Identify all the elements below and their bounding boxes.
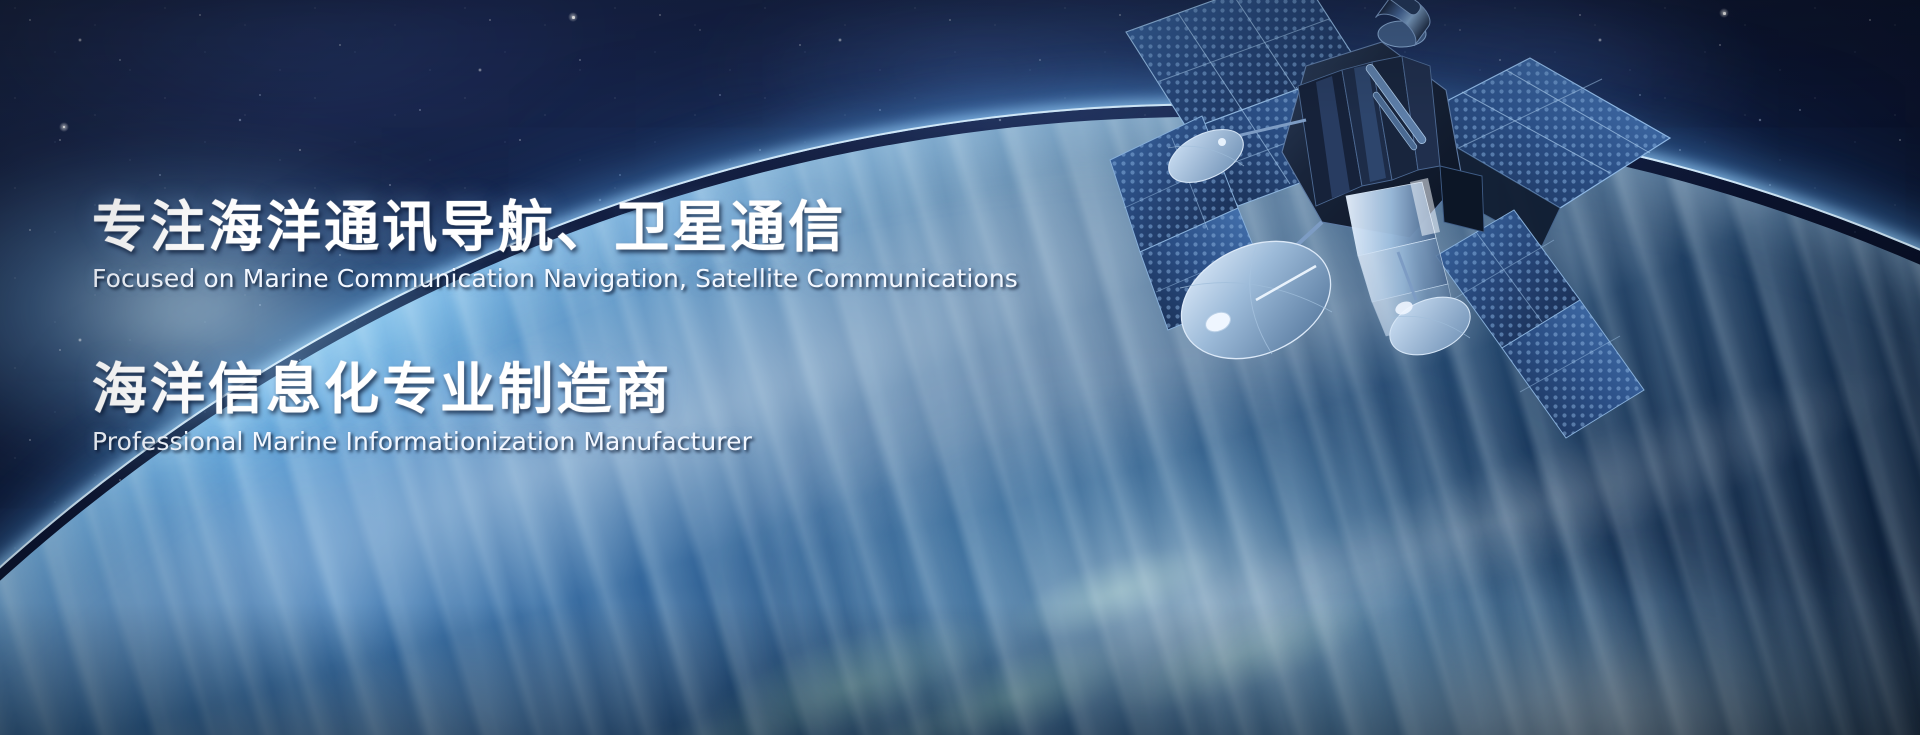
headline-english-primary: Focused on Marine Communication Navigati… [92, 262, 1152, 296]
atmosphere-glow-right [1180, 560, 1920, 735]
headline-chinese-primary: 专注海洋通讯导航、卫星通信 [92, 196, 1152, 258]
hero-banner: 专注海洋通讯导航、卫星通信 Focused on Marine Communic… [0, 0, 1920, 735]
copy-spacer [92, 296, 1152, 358]
headline-english-secondary: Professional Marine Informationization M… [92, 425, 1152, 459]
headline-chinese-secondary: 海洋信息化专业制造商 [92, 358, 1152, 420]
communications-satellite-icon [1110, 0, 1670, 440]
satellite-propulsion-module [1369, 0, 1436, 47]
hero-copy: 专注海洋通讯导航、卫星通信 Focused on Marine Communic… [92, 196, 1152, 459]
